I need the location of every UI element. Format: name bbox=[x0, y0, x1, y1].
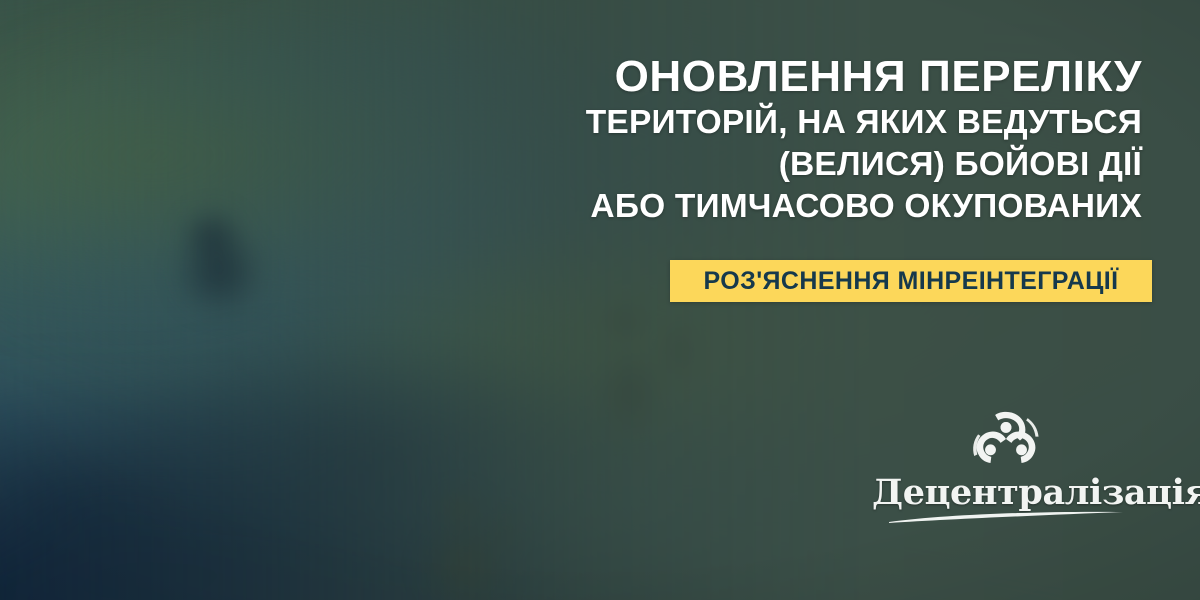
subtitle-badge: РОЗ'ЯСНЕННЯ МІНРЕІНТЕГРАЦІЇ bbox=[670, 260, 1152, 302]
headline-line-1: ОНОВЛЕННЯ ПЕРЕЛІКУ bbox=[522, 52, 1142, 102]
triskelion-three-figures-icon bbox=[967, 408, 1045, 470]
headline-line-4: АБО ТИМЧАСОВО ОКУПОВАНИХ bbox=[522, 186, 1142, 228]
subtitle-badge-text: РОЗ'ЯСНЕННЯ МІНРЕІНТЕГРАЦІЇ bbox=[704, 267, 1119, 296]
headline-line-3: (ВЕЛИСЯ) БОЙОВІ ДІЇ bbox=[522, 144, 1142, 186]
logo-wordmark: Децентралізація bbox=[872, 474, 1140, 512]
headline-line-2: ТЕРИТОРІЙ, НА ЯКИХ ВЕДУТЬСЯ bbox=[522, 102, 1142, 144]
banner-canvas: ОНОВЛЕННЯ ПЕРЕЛІКУ ТЕРИТОРІЙ, НА ЯКИХ ВЕ… bbox=[0, 0, 1200, 600]
brand-logo: Децентралізація bbox=[872, 408, 1140, 524]
headline-block: ОНОВЛЕННЯ ПЕРЕЛІКУ ТЕРИТОРІЙ, НА ЯКИХ ВЕ… bbox=[522, 52, 1142, 228]
